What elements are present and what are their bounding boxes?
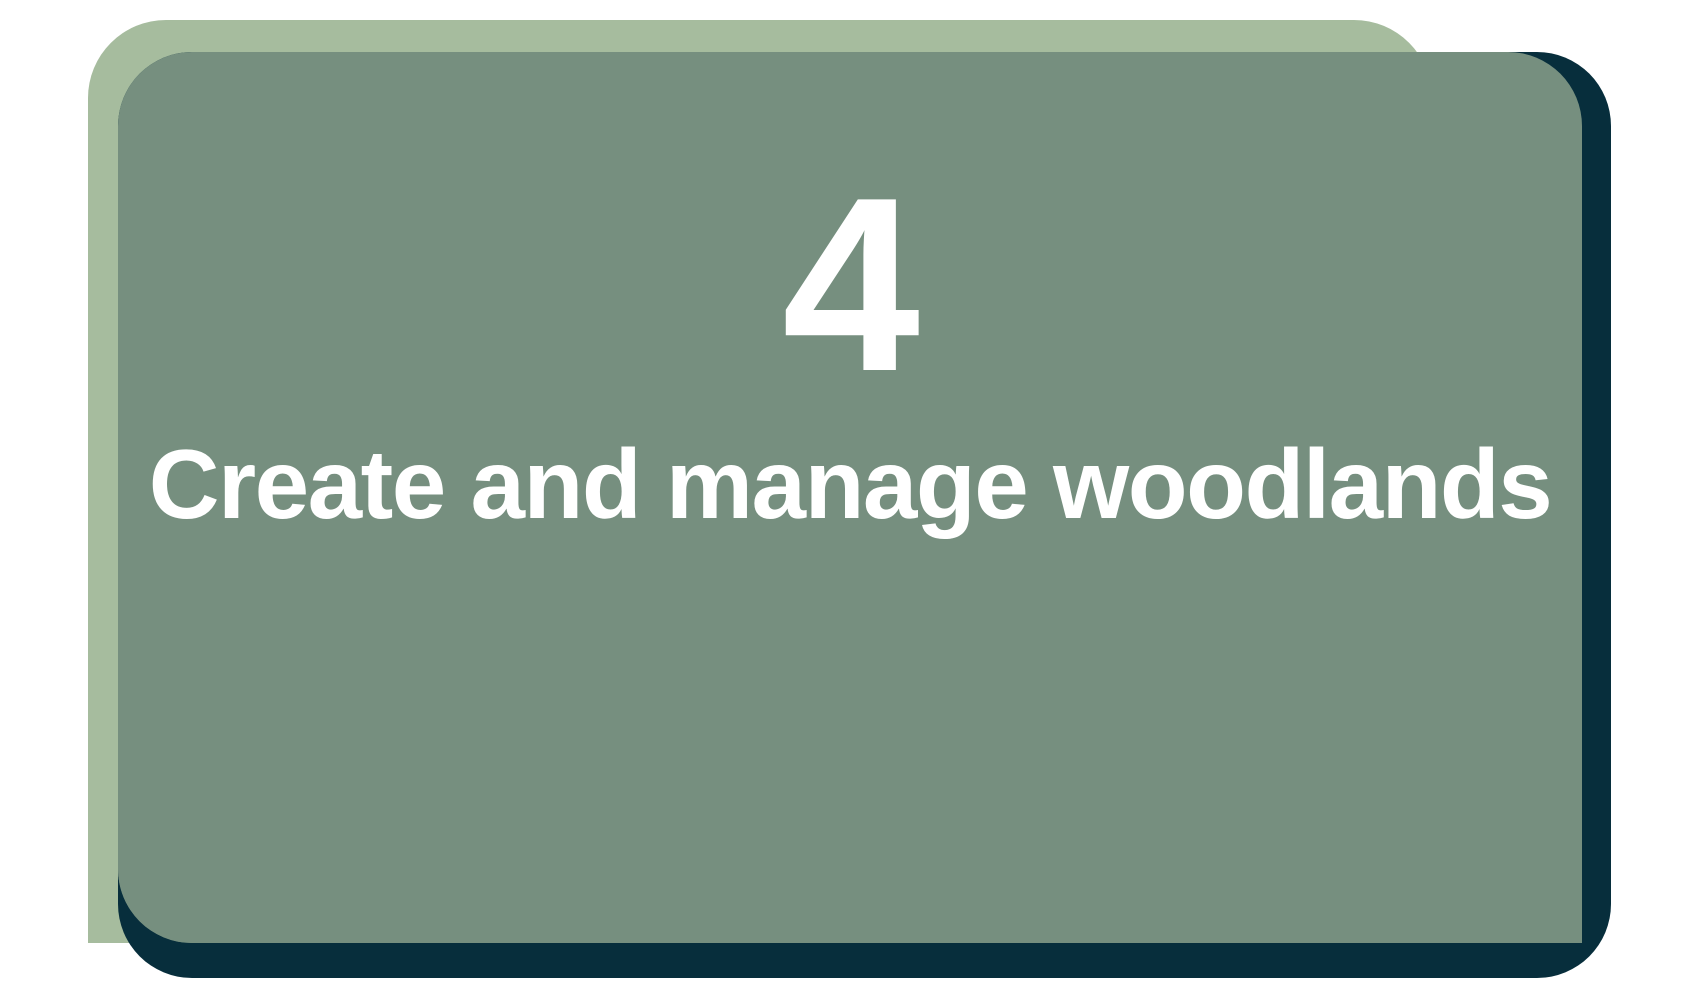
page-canvas: 4 Create and manage woodlands	[0, 0, 1700, 1000]
step-card[interactable]	[118, 52, 1582, 943]
